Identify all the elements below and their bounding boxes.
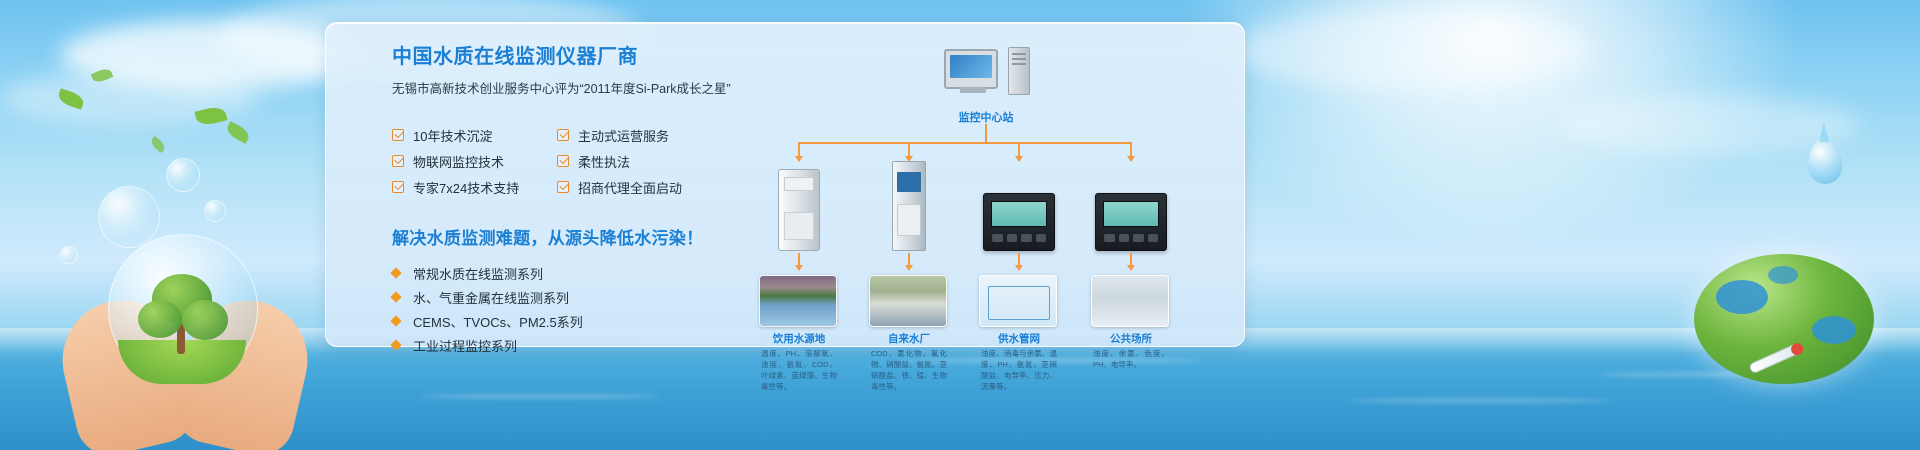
controller-panel-icon — [979, 159, 1059, 251]
monitoring-center-computer-icon — [944, 49, 1030, 99]
checkbox-checked-icon — [557, 155, 569, 167]
feature-label: 柔性执法 — [578, 152, 630, 171]
scenario-params: 浊度、消毒与余氯、温度、PH、氨氮、亚硝酸盐、电导率、压力、流量等。 — [979, 349, 1059, 393]
scenario-title: 供水管网 — [979, 331, 1059, 346]
scenario-title: 自来水厂 — [869, 331, 949, 346]
leaf-decoration — [224, 121, 251, 144]
feature-item: 专家7x24技术支持 — [392, 174, 557, 200]
leaf-decoration — [195, 105, 228, 128]
diamond-bullet-icon — [390, 292, 401, 303]
sun-glow — [1180, 0, 1800, 250]
monitoring-center-label: 监控中心站 — [906, 109, 1066, 125]
solution-label: 常规水质在线监测系列 — [413, 264, 543, 283]
feature-label: 物联网监控技术 — [413, 152, 504, 171]
device-column — [1091, 159, 1171, 251]
hands-sapling-illustration — [60, 230, 310, 450]
leaf-decoration — [56, 88, 85, 109]
solution-label: CEMS、TVOCs、PM2.5系列 — [413, 312, 583, 331]
solution-label: 工业过程监控系列 — [413, 336, 517, 355]
scenario-column: 公共场所 浊度、余氯、色度、PH、电导率。 — [1091, 275, 1171, 371]
arrow-down-icon — [1015, 265, 1023, 271]
water-droplet-icon — [1807, 137, 1843, 184]
solution-list: 常规水质在线监测系列 水、气重金属在线监测系列 CEMS、TVOCs、PM2.5… — [392, 261, 722, 357]
diamond-bullet-icon — [390, 340, 401, 351]
leaf-decoration — [149, 136, 167, 153]
diagram-connector — [798, 142, 1130, 144]
device-column — [979, 159, 1059, 251]
cloud-decoration — [1230, 10, 1590, 90]
arrow-down-icon — [1127, 265, 1135, 271]
scenario-photo-drinking-water-source — [759, 275, 837, 327]
scenario-photo-water-network — [979, 275, 1057, 327]
solution-item: 工业过程监控系列 — [392, 333, 722, 357]
arrow-down-icon — [795, 265, 803, 271]
checkbox-checked-icon — [392, 129, 404, 141]
feature-item: 主动式运营服务 — [557, 122, 722, 148]
controller-panel-icon — [1091, 159, 1171, 251]
device-column — [759, 159, 839, 251]
feature-item: 10年技术沉淀 — [392, 122, 557, 148]
solution-item: 水、气重金属在线监测系列 — [392, 285, 722, 309]
bubble-decoration — [204, 200, 226, 222]
feature-item: 柔性执法 — [557, 148, 722, 174]
main-banner-card: 中国水质在线监测仪器厂商 无锡市高新技术创业服务中心评为“2011年度Si-Pa… — [325, 22, 1245, 347]
scenario-title: 公共场所 — [1091, 331, 1171, 346]
checkbox-checked-icon — [557, 181, 569, 193]
brand-text-column: 中国水质在线监测仪器厂商 无锡市高新技术创业服务中心评为“2011年度Si-Pa… — [392, 45, 722, 357]
feature-label: 主动式运营服务 — [578, 126, 669, 145]
checkbox-checked-icon — [392, 155, 404, 167]
analyzer-cabinet-icon — [759, 159, 839, 251]
page-title: 中国水质在线监测仪器厂商 — [392, 45, 722, 69]
solution-label: 水、气重金属在线监测系列 — [413, 288, 569, 307]
scenario-photo-water-plant — [869, 275, 947, 327]
leaf-decoration — [91, 66, 114, 84]
bubble-decoration — [166, 158, 200, 192]
scenario-column: 自来水厂 COD、氯化物、氟化物、硝酸盐、氨氮、亚硝酸盐、铁、锰、生物毒性等。 — [869, 275, 949, 393]
scenario-params: 浊度、余氯、色度、PH、电导率。 — [1091, 349, 1171, 371]
diamond-bullet-icon — [390, 268, 401, 279]
checkbox-checked-icon — [557, 129, 569, 141]
feature-label: 招商代理全面启动 — [578, 178, 682, 197]
checkbox-checked-icon — [392, 181, 404, 193]
diamond-bullet-icon — [390, 316, 401, 327]
feature-item: 招商代理全面启动 — [557, 174, 722, 200]
scenario-params: 温度、PH、溶解氧、浊度、氨氮、COD、叶绿素、蓝绿藻、生物毒性等。 — [759, 349, 839, 393]
feature-item: 物联网监控技术 — [392, 148, 557, 174]
feature-label: 10年技术沉淀 — [413, 126, 492, 145]
feature-label: 专家7x24技术支持 — [413, 178, 519, 197]
scenario-params: COD、氯化物、氟化物、硝酸盐、氨氮、亚硝酸盐、铁、锰、生物毒性等。 — [869, 349, 949, 393]
device-column — [869, 159, 949, 251]
solution-item: 常规水质在线监测系列 — [392, 261, 722, 285]
diagram-connector — [985, 124, 987, 142]
arrow-down-icon — [905, 265, 913, 271]
scenario-column: 供水管网 浊度、消毒与余氯、温度、PH、氨氮、亚硝酸盐、电导率、压力、流量等。 — [979, 275, 1059, 393]
solution-heading: 解决水质监测难题，从源头降低水污染！ — [392, 224, 722, 249]
solution-item: CEMS、TVOCs、PM2.5系列 — [392, 309, 722, 333]
page-subtitle: 无锡市高新技术创业服务中心评为“2011年度Si-Park成长之星” — [392, 81, 722, 97]
green-earth-illustration — [1694, 254, 1874, 384]
analyzer-tower-icon — [869, 159, 949, 251]
system-diagram: 监控中心站 — [756, 31, 1226, 341]
scenario-column: 饮用水源地 温度、PH、溶解氧、浊度、氨氮、COD、叶绿素、蓝绿藻、生物毒性等。 — [759, 275, 839, 393]
scenario-title: 饮用水源地 — [759, 331, 839, 346]
scenario-photo-public-place — [1091, 275, 1169, 327]
feature-checklist: 10年技术沉淀 主动式运营服务 物联网监控技术 柔性执法 专家7x24技术支持 … — [392, 122, 722, 200]
